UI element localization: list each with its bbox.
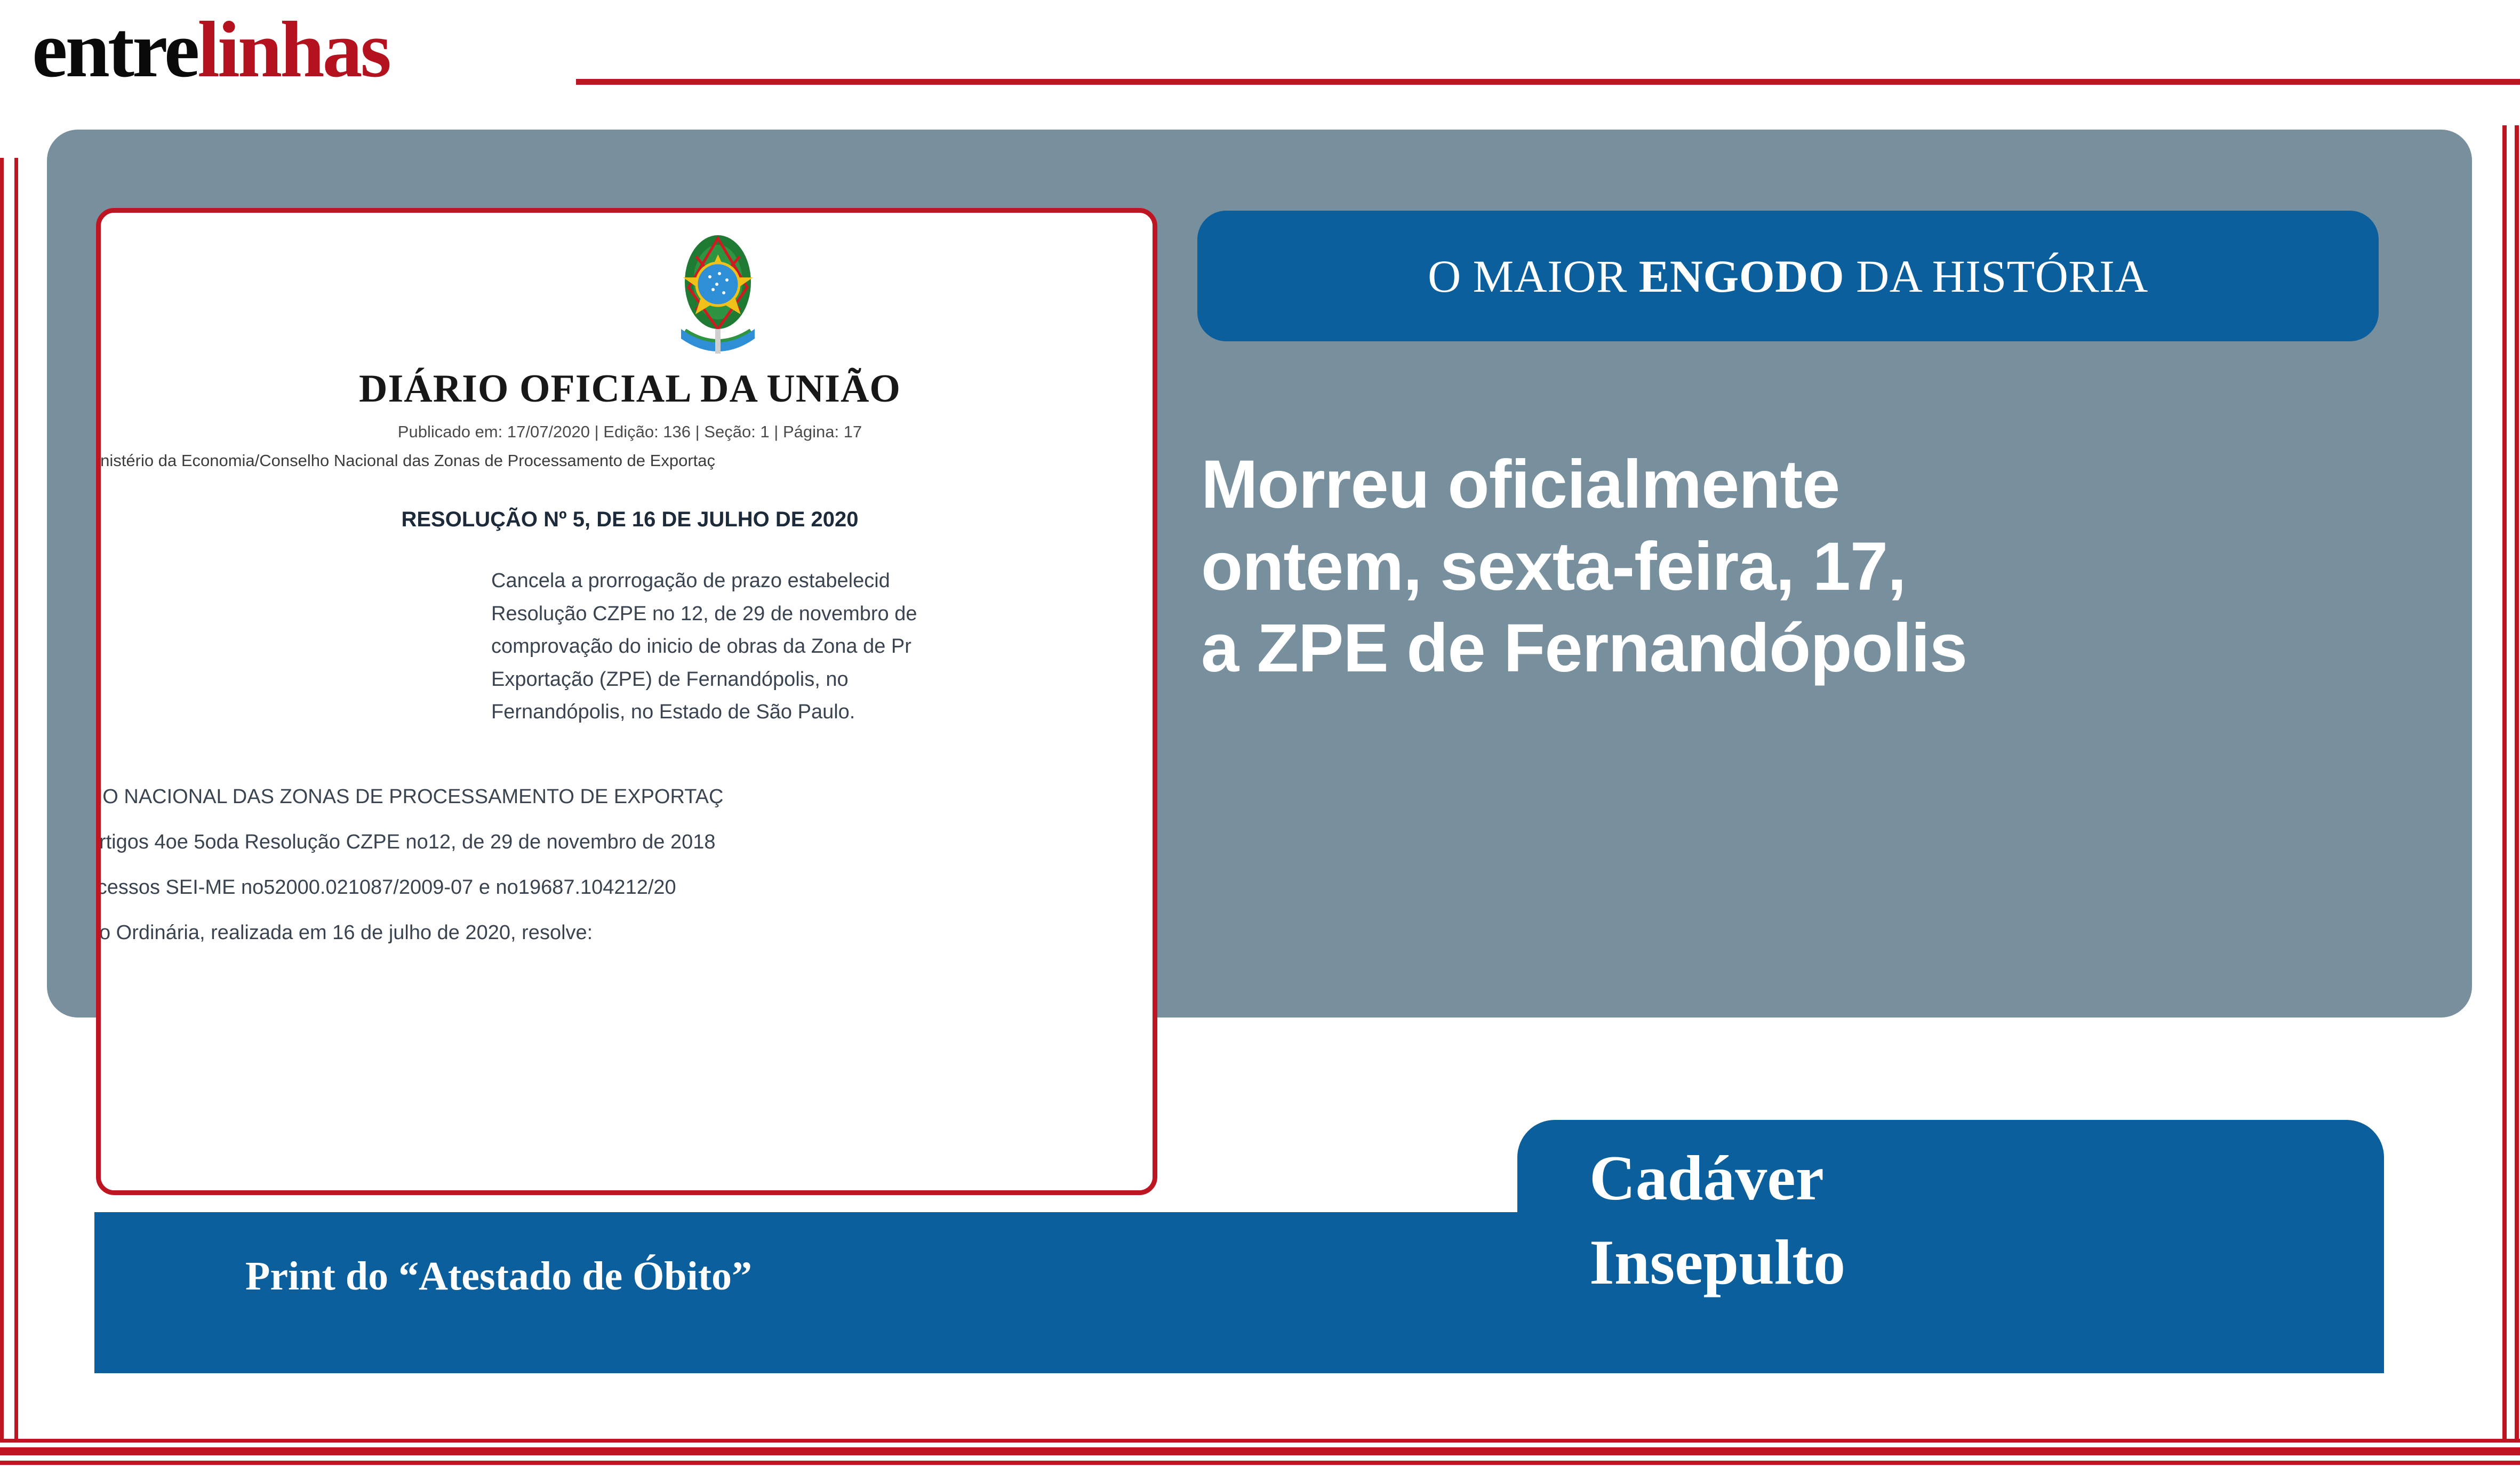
- headline-line-2: ontem, sexta-feira, 17,: [1201, 526, 2470, 608]
- body-line: s Processos SEI-ME no52000.021087/2009-0…: [96, 871, 1157, 904]
- ementa-line: Exportação (ZPE) de Fernandópolis, no: [491, 663, 1094, 696]
- poster-canvas: entrelinhas: [0, 0, 2520, 1466]
- headline-strong-word: Morreu: [1201, 446, 1429, 523]
- left-red-rule-outer: [0, 158, 4, 1440]
- headline-line-3: a ZPE de Fernandópolis: [1201, 607, 2470, 690]
- left-red-rule-inner: [14, 158, 18, 1440]
- right-red-rule-outer: [2515, 125, 2519, 1440]
- brazil-coat-of-arms-icon: [657, 225, 779, 363]
- kicker-text: O MAIOR ENGODO DA HISTÓRIA: [1428, 250, 2148, 303]
- headline-line-1-rest: oficialmente: [1429, 446, 1839, 523]
- ementa-line: Resolução CZPE no 12, de 29 de novembro …: [491, 598, 1094, 631]
- masthead-word-entre: entre: [32, 5, 197, 94]
- ementa-line: comprovação do inicio de obras da Zona d…: [491, 630, 1094, 663]
- kicker-emphasis: ENGODO: [1639, 251, 1844, 302]
- bottom-red-rule-3: [0, 1461, 2520, 1465]
- document-organ: o: Ministério da Economia/Conselho Nacio…: [96, 451, 1157, 470]
- kicker-banner: O MAIOR ENGODO DA HISTÓRIA: [1197, 211, 2379, 341]
- body-line: SELHO NACIONAL DAS ZONAS DE PROCESSAMENT…: [96, 780, 1157, 814]
- cadaver-text: Cadáver Insepulto: [1589, 1136, 2363, 1305]
- body-line: eunião Ordinária, realizada em 16 de jul…: [96, 916, 1157, 950]
- masthead-word-linhas: linhas: [197, 5, 389, 94]
- ementa-line: Cancela a prorrogação de prazo estabelec…: [491, 565, 1094, 598]
- document-page: DIÁRIO OFICIAL DA UNIÃO Publicado em: 17…: [97, 213, 1157, 1190]
- document-body: SELHO NACIONAL DAS ZONAS DE PROCESSAMENT…: [96, 780, 1157, 950]
- kicker-suffix: DA HISTÓRIA: [1844, 251, 2148, 302]
- document-ementa: Cancela a prorrogação de prazo estabelec…: [491, 565, 1094, 729]
- kicker-prefix: O MAIOR: [1428, 251, 1639, 302]
- document-resolution-heading: RESOLUÇÃO Nº 5, DE 16 DE JULHO DE 2020: [97, 508, 1157, 532]
- bottom-red-rule-1: [0, 1439, 2520, 1443]
- body-line: nos artigos 4oe 5oda Resolução CZPE no12…: [96, 826, 1157, 859]
- diario-oficial-document: DIÁRIO OFICIAL DA UNIÃO Publicado em: 17…: [96, 208, 1157, 1195]
- cadaver-line-1: Cadáver: [1589, 1136, 2363, 1220]
- right-red-rule-inner: [2502, 125, 2507, 1440]
- bottom-red-rule-2: [0, 1447, 2520, 1455]
- ementa-line: Fernandópolis, no Estado de São Paulo.: [491, 696, 1094, 729]
- cadaver-line-2: Insepulto: [1589, 1220, 2363, 1304]
- headline: Morreu oficialmente ontem, sexta-feira, …: [1201, 444, 2470, 690]
- masthead-logo: entrelinhas: [32, 10, 389, 90]
- document-title: DIÁRIO OFICIAL DA UNIÃO: [97, 366, 1157, 412]
- masthead-rule: [576, 79, 2520, 85]
- caption-text: Print do “Atestado de Óbito”: [245, 1253, 752, 1300]
- headline-line-1: Morreu oficialmente: [1201, 444, 2470, 526]
- document-meta: Publicado em: 17/07/2020 | Edição: 136 |…: [97, 422, 1157, 442]
